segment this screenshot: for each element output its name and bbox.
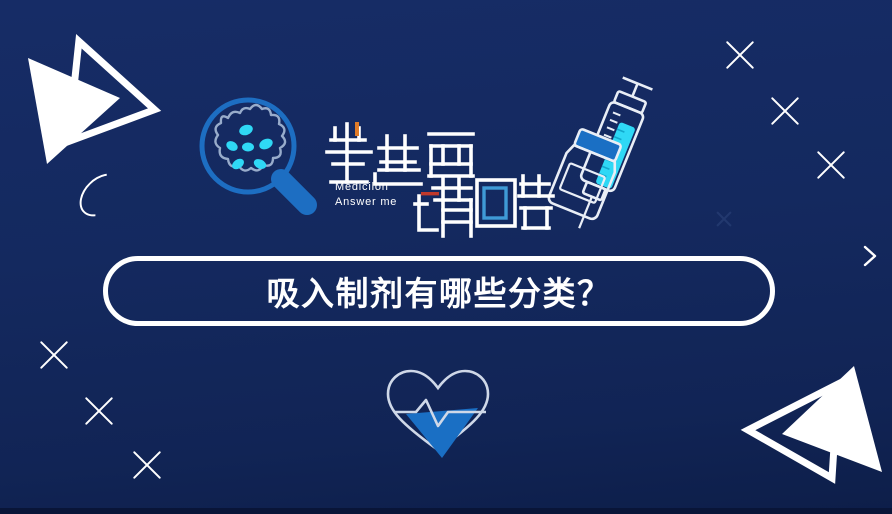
magnifier-virus-icon xyxy=(182,86,312,216)
virus-body xyxy=(215,105,285,171)
cross-icon-tr-3 xyxy=(812,146,850,184)
cross-icon-dim xyxy=(714,209,734,229)
logo-glyph-xi xyxy=(429,134,473,176)
triangle-pair-bottom-right xyxy=(742,362,892,492)
logo-hui-inner-box xyxy=(484,188,506,218)
chevron-right-icon xyxy=(862,244,878,268)
cross-icon-bl-2 xyxy=(80,392,118,430)
cross-icon-bl-1 xyxy=(35,336,73,374)
logo-name-en: Medicilon xyxy=(335,180,397,195)
page-title: 吸入制剂有哪些分类？ xyxy=(267,267,612,315)
logo-orange-accent xyxy=(355,122,359,136)
poster-canvas: Medicilon Answer me 吸入制剂有哪些分类？ xyxy=(0,0,892,514)
logo-red-accent xyxy=(421,192,439,195)
cross-icon-tr-2 xyxy=(766,92,804,130)
triangle-pair-top-left xyxy=(8,30,173,205)
logo-glyph-qing xyxy=(415,178,471,236)
vial-icon xyxy=(547,127,625,221)
magnifier-handle xyxy=(281,179,307,205)
cross-icon-tr-1 xyxy=(721,36,759,74)
logo-glyph-di xyxy=(375,136,421,184)
syringe-vial-group xyxy=(545,72,675,237)
logo-tagline-en: Answer me xyxy=(335,195,397,210)
virus-nucleus-dots xyxy=(225,123,275,172)
title-pill: 吸入制剂有哪些分类？ xyxy=(103,256,775,326)
logo-english-block: Medicilon Answer me xyxy=(335,180,397,210)
logo-glyph-mei xyxy=(327,124,371,182)
cross-icon-bl-3 xyxy=(128,446,166,484)
brand-logo: Medicilon Answer me xyxy=(325,118,515,238)
heart-pulse-icon xyxy=(382,366,494,458)
